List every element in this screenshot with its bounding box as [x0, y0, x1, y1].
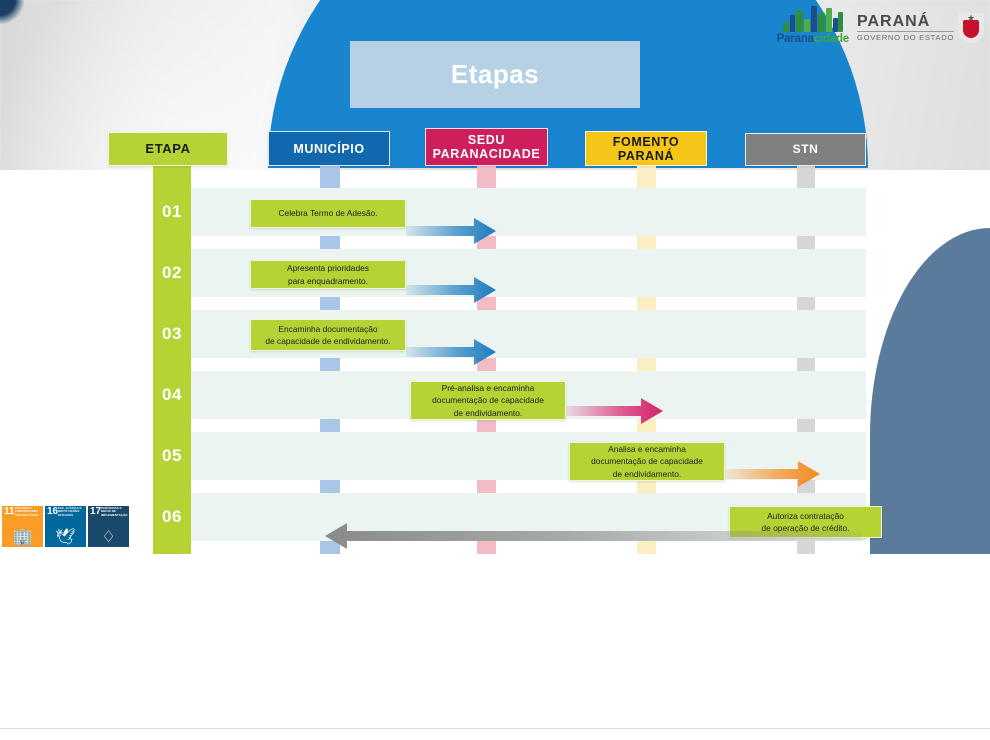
parana-shield-icon: ★ — [958, 13, 984, 43]
flow-arrow-03 — [406, 339, 496, 365]
column-header-fomento: FOMENTO PARANÁ — [585, 131, 707, 166]
etapa-number-06: 06 — [153, 493, 191, 541]
paranacidade-bar — [804, 19, 810, 32]
paranacidade-bar — [796, 10, 803, 32]
action-box-02: Apresenta prioridadespara enquadramento. — [250, 260, 406, 289]
logo-area: Paranacidade PARANÁ GOVERNO DO ESTADO ★ — [777, 2, 984, 45]
action-box-01-text: Celebra Termo de Adesão. — [278, 207, 377, 219]
column-header-fomento-label2: PARANÁ — [618, 149, 674, 163]
paranacidade-bar — [783, 22, 789, 32]
slide-title: Etapas — [451, 59, 539, 90]
action-box-05-text: Analisa e encaminhadocumentação de capac… — [591, 443, 703, 480]
paranacidade-word2: cidade — [814, 33, 849, 45]
slide-canvas: Etapas ETAPA MUNICÍPIO SEDU PARANACIDADE… — [0, 0, 990, 554]
column-header-sedu: SEDU PARANACIDADE — [425, 128, 548, 166]
action-box-03-text: Encaminha documentaçãode capacidade de e… — [265, 323, 390, 347]
action-box-04: Pré-analisa e encaminhadocumentação de c… — [410, 381, 566, 420]
sdg-badge-17-number: 17 — [90, 507, 101, 517]
flow-arrow-01 — [406, 218, 496, 244]
parana-estado-line2: GOVERNO DO ESTADO — [857, 31, 954, 42]
paranacidade-mark-icon — [783, 2, 843, 32]
column-header-stn: STN — [745, 133, 866, 166]
column-header-sedu-label: SEDU — [468, 133, 505, 147]
sdg-badge-16-number: 16 — [47, 507, 58, 517]
column-header-municipio-label: MUNICÍPIO — [293, 142, 364, 156]
buildings-icon: 🏢 — [2, 530, 43, 546]
page-foot-divider — [0, 728, 990, 729]
etapa-number-01: 01 — [153, 188, 191, 236]
etapa-number-04: 04 — [153, 371, 191, 419]
paranacidade-word1: Parana — [777, 33, 814, 45]
parana-estado-logo: PARANÁ GOVERNO DO ESTADO ★ — [857, 13, 984, 45]
paranacidade-bar — [818, 13, 825, 32]
flow-arrow-05 — [725, 461, 820, 487]
sdg-badge-11-number: 11 — [4, 507, 15, 517]
sdg-badge-11: 11 CIDADES E COMUNIDADES SUSTENTÁVEIS 🏢 — [2, 506, 43, 547]
sdg-badge-17: 17 PARCERIAS E MEIOS DE IMPLEMENTAÇÃO ♢ — [88, 506, 129, 547]
dove-gavel-icon: 🕊 — [45, 530, 86, 546]
action-box-02-text: Apresenta prioridadespara enquadramento. — [287, 262, 369, 286]
page-root: Etapas ETAPA MUNICÍPIO SEDU PARANACIDADE… — [0, 0, 990, 740]
etapa-number-03: 03 — [153, 310, 191, 358]
paranacidade-logo: Paranacidade — [777, 2, 849, 45]
paranacidade-bar — [826, 8, 832, 32]
background-corner-accent — [0, 0, 30, 26]
action-box-05: Analisa e encaminhadocumentação de capac… — [569, 442, 725, 481]
parana-estado-text: PARANÁ GOVERNO DO ESTADO — [857, 14, 954, 42]
parana-shield-inner — [963, 20, 979, 38]
sdg-badge-17-label: PARCERIAS E MEIOS DE IMPLEMENTAÇÃO — [101, 507, 128, 517]
sdg-badge-16: 16 PAZ, JUSTIÇA E INSTITUIÇÕES EFICAZES … — [45, 506, 86, 547]
paranacidade-wordmark: Paranacidade — [777, 33, 849, 45]
slide-title-plate: Etapas — [350, 41, 640, 108]
circles-icon: ♢ — [88, 530, 129, 546]
column-header-sedu-label2: PARANACIDADE — [433, 147, 541, 161]
column-header-fomento-label: FOMENTO — [613, 135, 679, 149]
paranacidade-bar — [790, 15, 795, 32]
column-header-etapa: ETAPA — [108, 132, 228, 166]
action-box-03: Encaminha documentaçãode capacidade de e… — [250, 319, 406, 351]
action-box-04-text: Pré-analisa e encaminhadocumentação de c… — [432, 382, 544, 419]
column-header-etapa-label: ETAPA — [145, 142, 190, 157]
parana-estado-line1: PARANÁ — [857, 14, 930, 30]
column-header-municipio: MUNICÍPIO — [268, 131, 390, 166]
sdg-badge-row: 11 CIDADES E COMUNIDADES SUSTENTÁVEIS 🏢 … — [2, 506, 129, 547]
action-box-01: Celebra Termo de Adesão. — [250, 199, 406, 228]
flow-arrow-06 — [325, 523, 862, 549]
paranacidade-bar — [811, 6, 817, 32]
etapa-number-02: 02 — [153, 249, 191, 297]
sdg-badge-16-label: PAZ, JUSTIÇA E INSTITUIÇÕES EFICAZES — [58, 507, 85, 517]
column-header-stn-label: STN — [793, 143, 819, 156]
flow-arrow-04 — [566, 398, 663, 424]
flow-arrow-02 — [406, 277, 496, 303]
paranacidade-bar — [838, 12, 843, 32]
sdg-badge-11-label: CIDADES E COMUNIDADES SUSTENTÁVEIS — [15, 507, 42, 517]
etapa-number-05: 05 — [153, 432, 191, 480]
